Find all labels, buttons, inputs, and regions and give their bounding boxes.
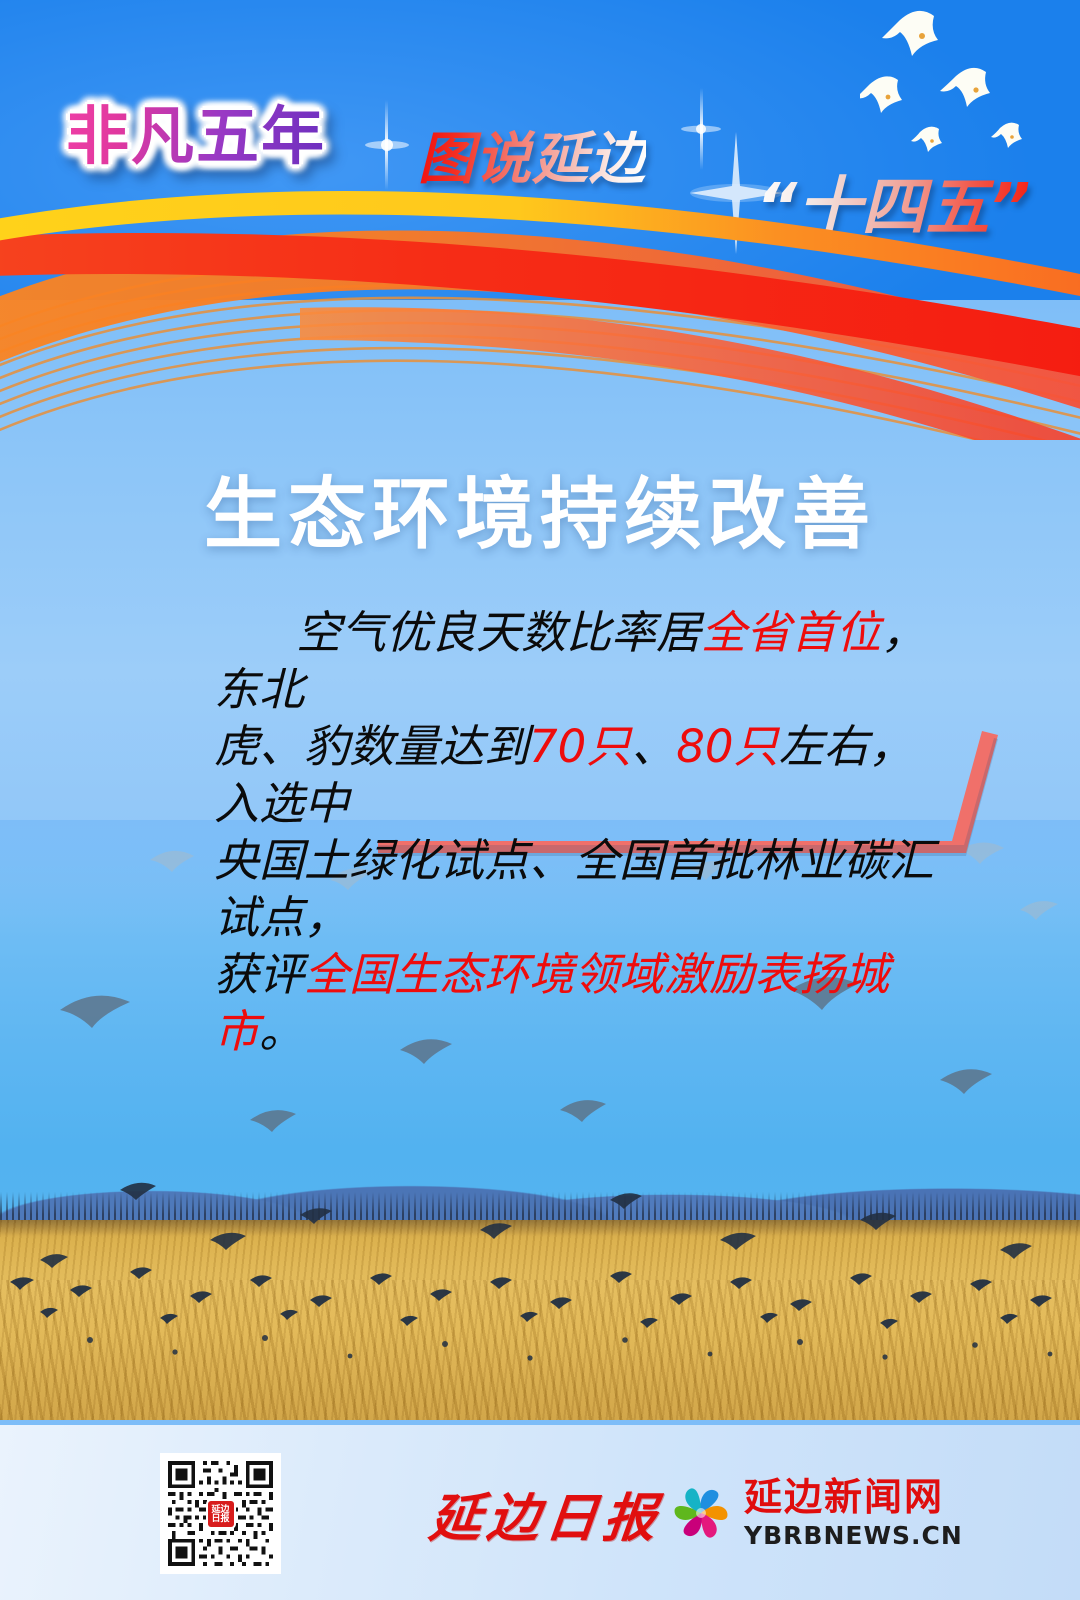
site-url: YBRBNEWS.CN	[744, 1523, 963, 1548]
body-paragraph: 空气优良天数比率居全省首位，东北虎、豹数量达到70只、80只左右，入选中央国土绿…	[214, 604, 936, 1060]
header-kicker: 非凡五年	[66, 86, 326, 177]
qr-code[interactable]: 延边日报	[160, 1453, 281, 1574]
body-highlight: 全国生态环境领域激励表扬城市	[214, 948, 889, 1058]
qr-center-badge: 延边日报	[208, 1501, 234, 1527]
body-highlight: 全省首位	[701, 606, 881, 659]
body-run: 。	[259, 1005, 304, 1058]
ribbon-waves	[0, 180, 1080, 440]
body-text-lines: 空气优良天数比率居全省首位，东北虎、豹数量达到70只、80只左右，入选中央国土绿…	[214, 604, 936, 1060]
site-brand-text: 延边新闻网 YBRBNEWS.CN	[744, 1478, 963, 1548]
footer-brand: 延边日报 延边新闻网 YBRBNEWS.CN	[430, 1463, 963, 1563]
body-run: 空气优良天数比率居	[296, 606, 701, 659]
body-line: 空气优良天数比率居全省首位，东北	[214, 604, 936, 718]
body-line: 虎、豹数量达到70只、80只左右，入选中	[214, 718, 936, 832]
site-name: 延边新闻网	[744, 1478, 963, 1516]
body-run: 央国土绿化试点、全国首批林业碳汇试点，	[214, 834, 934, 944]
body-run: 、	[631, 720, 676, 773]
pinwheel-icon	[670, 1482, 732, 1544]
page-title: 生态环境持续改善	[0, 452, 1080, 564]
poster-root: 非凡五年 图说延边 “十四五”	[0, 0, 1080, 1600]
harvested-field	[0, 1220, 1080, 1420]
poster-footer: 延边日报 延边日报 延边新闻网	[0, 1425, 1080, 1600]
newspaper-logo: 延边日报	[426, 1476, 666, 1551]
field-furrows-secondary	[0, 1280, 1080, 1420]
body-line: 获评全国生态环境领域激励表扬城市。	[214, 946, 936, 1060]
body-line: 央国土绿化试点、全国首批林业碳汇试点，	[214, 832, 936, 946]
body-highlight: 80只	[676, 720, 778, 773]
body-highlight: 70只	[529, 720, 631, 773]
body-run: 虎、豹数量达到	[214, 720, 529, 773]
dove-icon	[860, 0, 1080, 180]
body-run: 获评	[214, 948, 304, 1001]
